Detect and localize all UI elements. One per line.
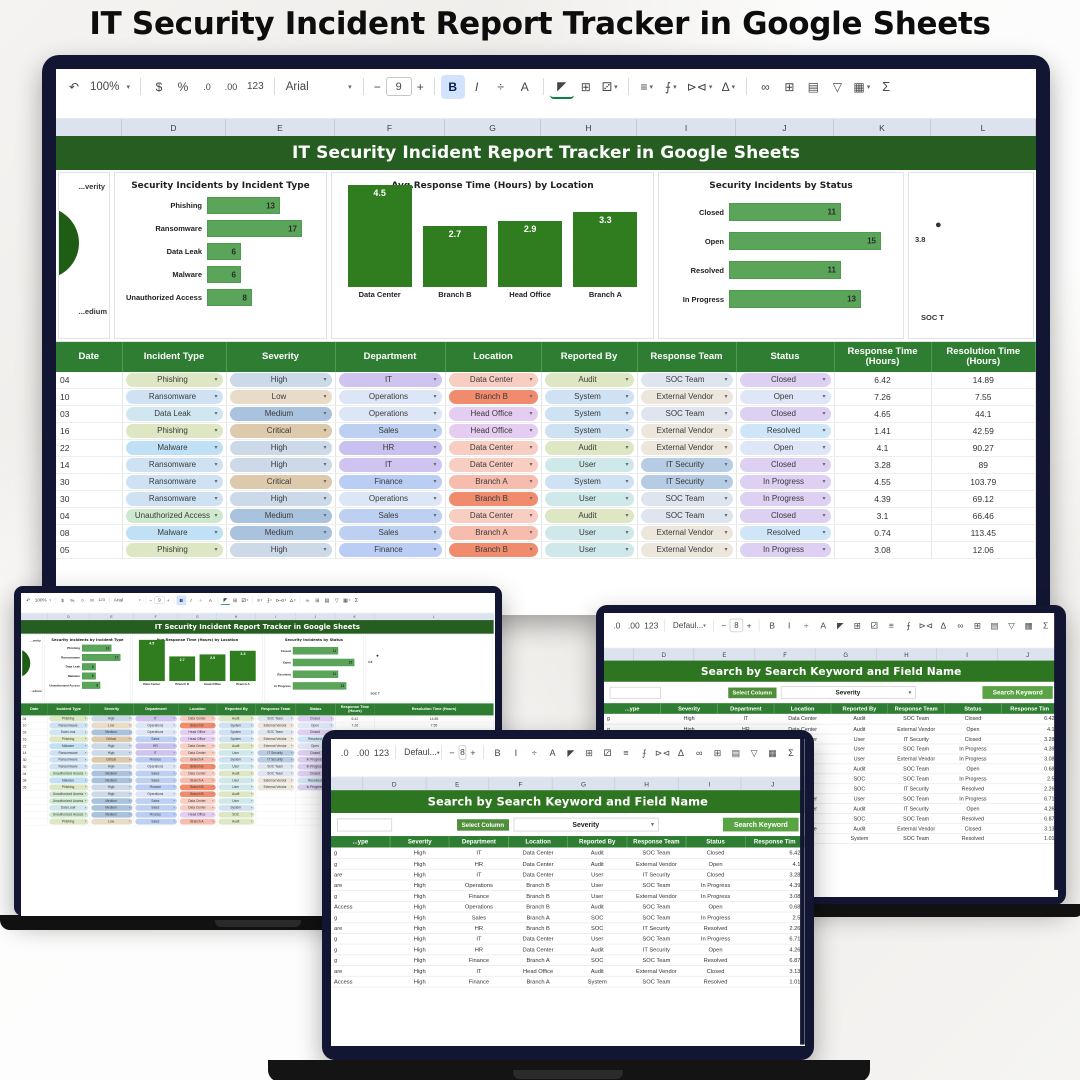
chevron-down-icon[interactable]: ▾ [724,459,727,471]
text-wrap-button-mini[interactable]: ⊳⊲ ▾ [274,595,288,605]
chevron-down-icon[interactable]: ▾ [214,391,217,403]
chevron-down-icon-mini[interactable]: ▾ [212,723,213,728]
search-cell-location-front[interactable]: Branch A [508,954,567,965]
th-response-time[interactable]: Response Time (Hours) [834,342,931,372]
cell-chip[interactable]: Sales▾ [339,509,442,523]
toolbar-icon-b12-front[interactable]: ⊞ [708,743,726,761]
cell-date-mini[interactable]: 03 [21,729,48,736]
cell-chip[interactable]: Audit▾ [545,441,634,455]
search-cell-team-front[interactable]: IT Security [627,944,686,955]
cell-chip[interactable]: Operations▾ [339,492,442,506]
cell-date-mini[interactable]: 05 [21,784,48,791]
chevron-down-icon[interactable]: ▾ [214,425,217,437]
search-cell-reported-front[interactable]: User [568,890,627,901]
cell-location[interactable]: Data Center▾ [445,507,541,524]
chevron-down-icon-mini[interactable]: ▾ [212,751,213,756]
cell-location[interactable]: Branch B▾ [445,541,541,558]
chevron-down-icon[interactable]: ▾ [214,544,217,556]
toolbar-icon-b16-right[interactable]: Σ [1037,617,1054,634]
chevron-down-icon-mini[interactable]: ▾ [251,730,252,735]
cell-chip-mini[interactable]: Audit▾ [218,743,254,749]
cell-chip[interactable]: IT Security▾ [641,458,733,472]
search-cell-department-front[interactable]: HR [449,922,508,933]
cell-response-team[interactable]: IT Security▾ [637,456,736,473]
zoom-level-dropdown[interactable]: 100% ▾ [86,75,134,99]
font-family-dropdown-mini[interactable]: Arial ▾ [112,595,143,605]
th-response-time-mini[interactable]: Response Time (Hours) [335,703,374,715]
text-rotation-button[interactable]: Δ ▾ [716,75,740,99]
chevron-down-icon[interactable]: ▾ [529,425,532,437]
cell-chip-mini[interactable]: Ransomware▾ [49,764,88,770]
search-th-0-front[interactable]: ...ype [331,836,390,847]
cell-reported-by[interactable]: System▾ [541,422,637,439]
cell-chip-mini[interactable]: Sales▾ [135,771,177,777]
th-reported-by-mini[interactable]: Reported By [217,703,256,715]
cell-date-mini[interactable] [21,818,48,825]
search-cell-response-front[interactable]: 4.26 [745,944,804,955]
cell-chip[interactable]: External Vendor▾ [641,526,733,540]
search-cell-type-front[interactable]: are [331,869,390,880]
chevron-down-icon[interactable]: ▾ [129,812,130,817]
chevron-down-icon[interactable]: ▾ [323,476,326,488]
cell-incident-type[interactable]: Ransomware▾ [122,473,226,490]
chevron-down-icon[interactable]: ▾ [323,442,326,454]
cell-chip[interactable]: Data Center▾ [180,798,216,804]
cell-chip[interactable]: Audit▾ [545,509,634,523]
cell-chip[interactable]: Medium▾ [230,509,332,523]
chevron-down-icon[interactable]: ▾ [323,527,326,539]
cell-date-mini[interactable] [21,804,48,811]
cell-chip-mini[interactable]: Sales▾ [135,736,177,742]
cell-response-team[interactable]: SOC Team▾ [637,405,736,422]
chevron-down-icon[interactable]: ▾ [214,408,217,420]
cell-status[interactable]: Resolved▾ [736,422,834,439]
cell-incident-type-mini[interactable]: Unauthorized Access▾ [48,798,90,805]
filter-icon[interactable]: ▽ [825,75,849,99]
toolbar-icon-b15-right[interactable]: ▦ [1020,617,1037,634]
cell-incident-type-mini[interactable]: Ransomware▾ [48,750,90,757]
search-cell-reported-right[interactable]: User [831,754,888,764]
sheets-toolbar[interactable]: ↶ 100% ▾ $ % .0 .00 123 Arial [56,69,1036,105]
horizontal-align-button[interactable]: ≡ ▾ [635,75,659,99]
table-row[interactable]: 08Malware▾Medium▾Sales▾Branch A▾User▾Ext… [56,524,1036,541]
toolbar-icon-b8-front[interactable]: ⨍ [635,743,653,761]
column-header-K[interactable]: K [834,119,931,136]
font-size-input-mini[interactable]: 9 [154,596,165,604]
number-format-button[interactable]: 123 [243,75,268,99]
column-header-I-right[interactable]: I [937,649,998,661]
cell-severity[interactable]: High▾ [226,456,335,473]
toolbar-icon-1-right[interactable]: .00 [625,617,642,634]
search-cell-team-right[interactable]: IT Security [888,734,945,744]
search-table-row-front[interactable]: gHighITData CenterUserSOC TeamIn Progres… [331,933,804,944]
column-header-H-mini[interactable]: H [217,613,256,620]
search-cell-response-right[interactable]: 6.71 [1001,793,1058,803]
cell-chip[interactable]: User▾ [545,526,634,540]
search-cell-team-right[interactable]: SOC Team [888,833,945,843]
chevron-down-icon-mini[interactable]: ▾ [85,778,86,783]
cell-date[interactable]: 30 [56,473,122,490]
th-severity[interactable]: Severity [226,342,335,372]
search-cell-type-front[interactable]: are [331,965,390,976]
cell-severity-mini[interactable]: High▾ [90,784,134,791]
chevron-down-icon[interactable]: ▾ [529,527,532,539]
cell-response-team[interactable]: External Vendor▾ [637,388,736,405]
decrease-decimal-button[interactable]: .0 [195,75,219,99]
search-cell-type-right[interactable]: g [604,714,661,724]
column-header-J-mini[interactable]: J [296,613,336,620]
chevron-down-icon[interactable]: ▾ [625,510,628,522]
cell-chip[interactable]: Phishing▾ [49,819,88,825]
search-cell-status-front[interactable]: In Progress [686,933,745,944]
chevron-down-icon[interactable]: ▾ [529,459,532,471]
cell-chip[interactable]: High▾ [230,373,332,387]
cell-chip-mini[interactable]: High▾ [91,784,132,790]
cell-chip-mini[interactable]: User▾ [218,778,254,784]
cell-chip-mini[interactable]: IT Security▾ [257,757,294,763]
search-cell-status-right[interactable]: Open [945,764,1002,774]
search-cell-response-right[interactable]: 4.1 [1001,724,1058,734]
chevron-down-icon[interactable]: ▾ [174,812,175,817]
search-cell-severity-front[interactable]: High [390,858,449,869]
search-toolbar-right[interactable]: .0.00123Defaul...▾−8+BI÷A◤⊞⚂≡⨍⊳⊲Δ∞⊞▤▽▦Σ [604,613,1058,639]
search-cell-severity-right[interactable]: High [661,714,718,724]
toolbar-icon-b15-front[interactable]: ▦ [763,743,781,761]
cell-chip[interactable]: High▾ [230,441,332,455]
search-cell-type-front[interactable]: are [331,922,390,933]
th-incident-type-mini[interactable]: Incident Type [48,703,90,715]
cell-chip[interactable]: Ransomware▾ [126,390,223,404]
cell-chip-mini[interactable]: Critical▾ [91,736,132,742]
cell-chip-mini[interactable]: Head Office▾ [180,736,216,742]
chevron-down-icon-mini[interactable]: ▾ [174,751,175,756]
cell-response-time-mini[interactable]: 7.26 [335,722,374,729]
severity-pie-chart[interactable]: ...verity ...edium [58,172,110,339]
cell-department-mini[interactable]: Operations▾ [134,763,178,770]
cell-status[interactable]: Open▾ [736,439,834,456]
chevron-down-icon[interactable]: ▾ [212,805,213,810]
chevron-down-icon[interactable]: ▾ [174,799,175,804]
cell-incident-type-mini[interactable]: Phishing▾ [48,715,90,722]
search-cell-severity-front[interactable]: High [390,954,449,965]
chevron-down-icon-mini[interactable]: ▾ [291,737,292,742]
cell-response-time[interactable]: 3.1 [834,507,931,524]
search-cell-response-right[interactable]: 2.5 [1001,773,1058,783]
cell-resolution-time-mini[interactable]: 7.55 [375,722,494,729]
font-size-stepper-right[interactable]: −8+ [718,617,754,634]
search-table-row-front[interactable]: gHighITData CenterAuditSOC TeamClosed6.4… [331,847,804,858]
cell-department[interactable]: HR▾ [335,439,445,456]
search-cell-status-right[interactable]: Closed [945,734,1002,744]
th-incident-type[interactable]: Incident Type [122,342,226,372]
chevron-down-icon[interactable]: ▾ [433,476,436,488]
search-cell-status-right[interactable]: In Progress [945,793,1002,803]
cell-incident-type-mini[interactable]: Ransomware▾ [48,763,90,770]
toolbar-icon-b10-front[interactable]: Δ [672,743,690,761]
cell-response-team[interactable]: External Vendor▾ [637,439,736,456]
cell-severity-mini[interactable]: High▾ [90,743,134,750]
cell-chip[interactable]: External Vendor▾ [641,424,733,438]
search-th-4-right[interactable]: Reported By [831,703,888,714]
incident-data-table-wrapper[interactable]: Date Incident Type Severity Department L… [56,342,1036,615]
insert-chart-icon-mini[interactable]: ▤ [322,595,332,605]
cell-chip-mini[interactable]: Medium▾ [91,778,132,784]
insert-link-icon[interactable]: ∞ [753,75,777,99]
cell-reported-by-mini[interactable]: Audit▾ [217,818,256,825]
avg-response-time-chart-mini[interactable]: Avg.Response Time (Hours) by Location 4.… [132,635,262,702]
cell-resolution-time[interactable]: 44.1 [931,405,1036,422]
cell-response-team-mini[interactable] [256,798,296,805]
cell-response-team-mini[interactable]: External Vendor▾ [256,784,296,791]
cell-location[interactable]: Head Office▾ [445,405,541,422]
zoom-level-dropdown-mini[interactable]: 100% ▾ [33,595,52,605]
th-response-team-mini[interactable]: Response Team [256,703,296,715]
search-cell-status-front[interactable]: Closed [686,965,745,976]
chevron-down-icon-mini[interactable]: ▾ [85,744,86,749]
cell-chip[interactable]: Operations▾ [135,791,177,797]
cell-department[interactable]: Finance▾ [335,541,445,558]
toolbar-icon-b13-front[interactable]: ▤ [727,743,745,761]
cell-chip[interactable]: SOC Team▾ [641,407,733,421]
decrease-font-size-icon-front[interactable]: − [449,747,454,758]
merge-cells-button-mini[interactable]: ⚂ ▾ [240,595,250,605]
cell-chip[interactable]: Closed▾ [740,458,831,472]
chevron-down-icon-mini[interactable]: ▾ [212,785,213,790]
search-view-front[interactable]: .0.00123Defaul...▾−8+BI÷A◤⊞⚂≡⨍⊳⊲Δ∞⊞▤▽▦ΣD… [331,739,805,1045]
search-cell-reported-right[interactable]: System [831,833,888,843]
cell-date-mini[interactable]: 14 [21,750,48,757]
cell-chip[interactable]: Closed▾ [740,407,831,421]
cell-response-time[interactable]: 1.41 [834,422,931,439]
search-cell-reported-right[interactable]: User [831,734,888,744]
search-cell-reported-right[interactable]: Audit [831,803,888,813]
cell-chip[interactable]: Closed▾ [740,509,831,523]
search-cell-department-front[interactable]: Finance [449,954,508,965]
cell-severity-mini[interactable]: Medium▾ [90,729,134,736]
cell-reported-by-mini[interactable]: System▾ [217,804,256,811]
search-cell-reported-front[interactable]: User [568,880,627,891]
column-header-D-front[interactable]: D [363,777,426,790]
search-cell-severity-front[interactable]: High [390,901,449,912]
cell-chip[interactable]: Sales▾ [135,819,177,825]
cell-resolution-time[interactable]: 42.59 [931,422,1036,439]
cell-chip[interactable]: Finance▾ [339,475,442,489]
search-cell-status-right[interactable]: In Progress [945,744,1002,754]
filter-icon-mini[interactable]: ▽ [332,595,342,605]
column-header-F-front[interactable]: F [489,777,552,790]
cell-date[interactable]: 08 [56,524,122,541]
cell-chip[interactable]: Ransomware▾ [126,458,223,472]
cell-department[interactable]: Sales▾ [335,422,445,439]
cell-chip-mini[interactable]: External Vendor▾ [257,736,294,742]
cell-resolution-time[interactable]: 66.46 [931,507,1036,524]
search-cell-reported-front[interactable]: Audit [568,847,627,858]
search-cell-response-right[interactable]: 6.42 [1001,714,1058,724]
chevron-down-icon-mini[interactable]: ▾ [251,716,252,721]
search-table-row-front[interactable]: areHighITData CenterUserIT SecurityClose… [331,869,804,880]
cell-department[interactable]: Operations▾ [335,490,445,507]
cell-status[interactable]: Open▾ [736,388,834,405]
cell-chip-mini[interactable]: Branch A▾ [180,778,216,784]
cell-chip[interactable]: Branch A▾ [180,819,216,825]
cell-department-mini[interactable]: Sales▾ [134,818,178,825]
cell-chip[interactable]: External Vendor▾ [641,441,733,455]
cell-severity[interactable]: High▾ [226,372,335,389]
column-header-L-mini[interactable]: L [375,613,494,620]
insert-comment-icon-mini[interactable]: ⊞ [312,595,322,605]
search-cell-severity-front[interactable]: High [390,880,449,891]
cell-status[interactable]: Resolved▾ [736,524,834,541]
percent-format-button[interactable]: % [171,75,195,99]
search-cell-location-right[interactable]: Data Center [774,714,831,724]
toolbar-icon-b14-right[interactable]: ▽ [1003,617,1020,634]
chevron-down-icon-mini[interactable]: ▾ [331,723,332,728]
column-header-J[interactable]: J [736,119,834,136]
cell-chip-mini[interactable]: Phishing▾ [49,784,88,790]
search-cell-status-front[interactable]: Open [686,901,745,912]
increase-font-size-icon-right[interactable]: + [747,620,752,630]
search-cell-team-front[interactable]: SOC Team [627,880,686,891]
chevron-down-icon-mini[interactable]: ▾ [212,771,213,776]
chevron-down-icon[interactable]: ▾ [724,476,727,488]
cell-status[interactable]: In Progress▾ [736,490,834,507]
chevron-down-icon-mini[interactable]: ▾ [251,764,252,769]
chevron-down-icon[interactable]: ▾ [822,391,825,403]
cell-location-mini[interactable]: Data Center▾ [178,750,217,757]
cell-severity-mini[interactable]: Medium▾ [90,777,134,784]
cell-chip[interactable]: Operations▾ [339,390,442,404]
search-cell-team-front[interactable]: External Vendor [627,890,686,901]
search-cell-status-right[interactable]: Resolved [945,813,1002,823]
cell-response-team-mini[interactable] [256,811,296,818]
column-select-dropdown-right[interactable]: Severity▾ [780,686,915,699]
search-th-5-right[interactable]: Response Team [888,703,945,714]
search-cell-department-front[interactable]: Operations [449,901,508,912]
chevron-down-icon[interactable]: ▾ [174,792,175,797]
cell-chip-mini[interactable]: IT▾ [135,750,177,756]
toolbar-icon-b1-front[interactable]: I [507,743,525,761]
search-cell-department-front[interactable]: Sales [449,912,508,923]
cell-incident-type-mini[interactable]: Unauthorized Access▾ [48,791,90,798]
cell-response-time[interactable]: 4.65 [834,405,931,422]
cell-chip[interactable]: Resolved▾ [740,424,831,438]
cell-chip[interactable]: Ransomware▾ [126,475,223,489]
cell-reported-by[interactable]: System▾ [541,388,637,405]
chevron-down-icon[interactable]: ▾ [433,459,436,471]
chevron-down-icon-mini[interactable]: ▾ [212,730,213,735]
chevron-down-icon-mini[interactable]: ▾ [174,723,175,728]
cell-location-mini[interactable]: Data Center▾ [178,798,217,805]
search-table-row-front[interactable]: gHighSalesBranch ASOCSOC TeamIn Progress… [331,912,804,923]
cell-chip[interactable]: Malware▾ [126,526,223,540]
search-cell-reported-right[interactable]: Audit [831,823,888,833]
cell-chip[interactable]: User▾ [545,492,634,506]
chevron-down-icon[interactable]: ▾ [433,442,436,454]
search-cell-department-front[interactable]: IT [449,965,508,976]
search-cell-team-right[interactable]: SOC Team [888,714,945,724]
cell-chip-mini[interactable]: HR▾ [135,743,177,749]
chevron-down-icon[interactable]: ▾ [625,442,628,454]
chevron-down-icon-mini[interactable]: ▾ [129,751,130,756]
search-cell-reported-front[interactable]: Audit [568,858,627,869]
cell-chip-mini[interactable]: Data Center▾ [180,771,216,777]
chevron-down-icon-mini[interactable]: ▾ [174,716,175,721]
cell-resolution-time[interactable]: 14.89 [931,372,1036,389]
font-size-stepper[interactable]: − 9 + [370,75,428,99]
search-cell-response-right[interactable]: 3.08 [1001,754,1058,764]
chevron-down-icon-mini[interactable]: ▾ [212,764,213,769]
bold-button-mini[interactable]: B [176,595,186,605]
chevron-down-icon[interactable]: ▾ [822,442,825,454]
column-header-I-front[interactable]: I [679,777,742,790]
cell-chip-mini[interactable]: SOC Team▾ [257,771,294,777]
search-cell-severity-front[interactable]: High [390,912,449,923]
chevron-down-icon[interactable]: ▾ [433,527,436,539]
cell-chip[interactable]: Low▾ [91,819,132,825]
cell-reported-by-mini[interactable]: Audit▾ [217,791,256,798]
search-cell-response-front[interactable]: 3.28 [745,869,804,880]
search-table-row-front[interactable]: AccessHighFinanceBranch ASystemSOC TeamR… [331,976,804,987]
chevron-down-icon-mini[interactable]: ▾ [291,723,292,728]
cell-chip[interactable]: SOC Team▾ [641,509,733,523]
column-select-dropdown-front[interactable]: Severity▾ [513,818,658,832]
search-cell-reported-front[interactable]: SOC [568,954,627,965]
cell-chip[interactable]: Closed▾ [740,373,831,387]
chevron-down-icon[interactable]: ▾ [251,792,252,797]
cell-response-team-mini[interactable] [256,791,296,798]
cell-department[interactable]: Sales▾ [335,524,445,541]
search-cell-type-front[interactable]: g [331,890,390,901]
search-cell-team-right[interactable]: SOC Team [888,764,945,774]
chevron-down-icon[interactable]: ▾ [529,476,532,488]
search-cell-response-front[interactable]: 0.68 [745,901,804,912]
chevron-down-icon[interactable]: ▾ [323,493,326,505]
search-cell-reported-front[interactable]: User [568,933,627,944]
search-cell-location-front[interactable]: Data Center [508,944,567,955]
cell-response-team-mini[interactable] [256,804,296,811]
cell-resolution-time[interactable]: 7.55 [931,388,1036,405]
cell-location-mini[interactable]: Branch B▾ [178,722,217,729]
incidents-by-status-chart[interactable]: Security Incidents by Status Closed 11 O… [658,172,904,339]
cell-chip[interactable]: Malware▾ [126,441,223,455]
cell-location-mini[interactable]: Head Office▾ [178,729,217,736]
search-cell-team-right[interactable]: IT Security [888,783,945,793]
toolbar-icon-b4-right[interactable]: ◤ [832,617,849,634]
cell-chip[interactable]: Unauthorized Access▾ [49,791,88,797]
chevron-down-icon[interactable]: ▾ [724,442,727,454]
cell-reported-by[interactable]: User▾ [541,541,637,558]
chevron-down-icon[interactable]: ▾ [129,805,130,810]
cell-location-mini[interactable]: Branch B▾ [178,763,217,770]
search-cell-status-right[interactable]: Closed [945,714,1002,724]
cell-chip-mini[interactable]: Branch A▾ [180,757,216,763]
cell-chip[interactable]: Audit▾ [545,373,634,387]
fill-color-icon[interactable]: ◤ [550,75,574,99]
search-cell-type-front[interactable]: are [331,880,390,891]
toolbar-icon-b16-front[interactable]: Σ [782,743,800,761]
chevron-down-icon-mini[interactable]: ▾ [251,778,252,783]
cell-chip[interactable]: Medium▾ [91,812,132,818]
toolbar-icon-b5-right[interactable]: ⊞ [849,617,866,634]
chevron-down-icon[interactable]: ▾ [323,459,326,471]
cell-chip[interactable]: High▾ [230,458,332,472]
cell-department-mini[interactable]: HR▾ [134,743,178,750]
horizontal-align-button-mini[interactable]: ≡ ▾ [255,595,265,605]
search-controls-front[interactable]: Select ColumnSeverity▾Search Keyword [331,813,805,836]
table-body[interactable]: 04Phishing▾High▾IT▾Data Center▾Audit▾SOC… [56,372,1036,559]
cell-reported-by[interactable]: System▾ [541,405,637,422]
th-date[interactable]: Date [56,342,122,372]
